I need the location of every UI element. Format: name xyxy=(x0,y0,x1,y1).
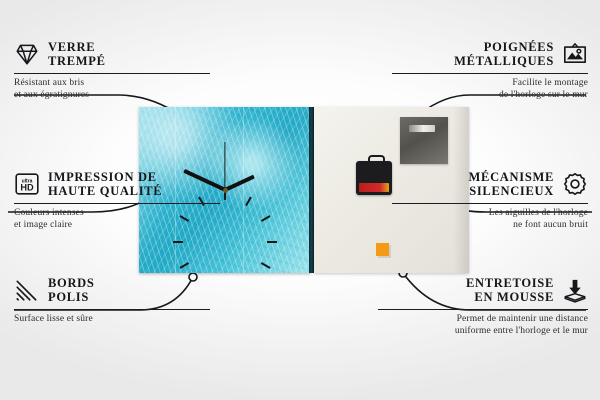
feature-description: Les aiguilles de l'horlogene font aucun … xyxy=(392,208,588,231)
print-seam xyxy=(243,107,244,273)
feature-description: Permet de maintenir une distanceuniforme… xyxy=(378,314,588,337)
feature-header: VERRETREMPÉ xyxy=(14,40,210,68)
feature-description: Résistant aux briset aux égratignures xyxy=(14,78,210,101)
bracket-slot xyxy=(409,125,435,132)
hanging-frame-icon xyxy=(562,41,588,67)
feature-header: POIGNÉESMÉTALLIQUES xyxy=(392,40,588,68)
feature-title: VERRETREMPÉ xyxy=(48,40,106,68)
battery xyxy=(359,183,389,192)
movement-hanger xyxy=(368,155,385,165)
diamond-icon xyxy=(14,41,40,67)
svg-text:HD: HD xyxy=(20,183,34,193)
feature-mecanisme-silencieux: MÉCANISMESILENCIEUX Les aiguilles de l'h… xyxy=(392,170,588,231)
feature-header: BORDSPOLIS xyxy=(14,276,210,304)
foam-spacer xyxy=(376,243,389,256)
gear-icon xyxy=(562,171,588,197)
divider xyxy=(14,73,210,74)
feature-bords-polis: BORDSPOLIS Surface lisse et sûre xyxy=(14,276,210,326)
infographic-stage: VERRETREMPÉ Résistant aux briset aux égr… xyxy=(0,0,600,400)
feature-header: MÉCANISMESILENCIEUX xyxy=(392,170,588,198)
feature-description: Facilite le montagede l'horloge sur le m… xyxy=(392,78,588,101)
divider xyxy=(378,309,588,310)
divider xyxy=(392,203,588,204)
feature-title: IMPRESSION DEHAUTE QUALITÉ xyxy=(48,170,162,198)
metal-hanging-bracket xyxy=(400,117,448,164)
feature-entretoise-en-mousse: ENTRETOISEEN MOUSSE Permet de maintenir … xyxy=(378,276,588,337)
feature-header: ultra HD IMPRESSION DEHAUTE QUALITÉ xyxy=(14,170,220,198)
feature-description: Surface lisse et sûre xyxy=(14,314,210,326)
feature-title: ENTRETOISEEN MOUSSE xyxy=(466,276,554,304)
clock-hub xyxy=(223,188,228,193)
polished-edge-icon xyxy=(14,277,40,303)
divider xyxy=(392,73,588,74)
feature-verre-trempe: VERRETREMPÉ Résistant aux briset aux égr… xyxy=(14,40,210,101)
feature-impression-haute-qualite: ultra HD IMPRESSION DEHAUTE QUALITÉ Coul… xyxy=(14,170,220,231)
feature-title: MÉCANISMESILENCIEUX xyxy=(469,170,554,198)
feature-title: BORDSPOLIS xyxy=(48,276,95,304)
ultra-hd-icon: ultra HD xyxy=(14,171,40,197)
foam-spacer-arrow-icon xyxy=(562,277,588,303)
divider xyxy=(14,203,220,204)
feature-header: ENTRETOISEEN MOUSSE xyxy=(378,276,588,304)
feature-description: Couleurs intenseset image claire xyxy=(14,208,220,231)
quartz-movement-box xyxy=(356,161,392,195)
feature-poignees-metalliques: POIGNÉESMÉTALLIQUES Facilite le montaged… xyxy=(392,40,588,101)
divider xyxy=(14,309,210,310)
feature-title: POIGNÉESMÉTALLIQUES xyxy=(454,40,554,68)
